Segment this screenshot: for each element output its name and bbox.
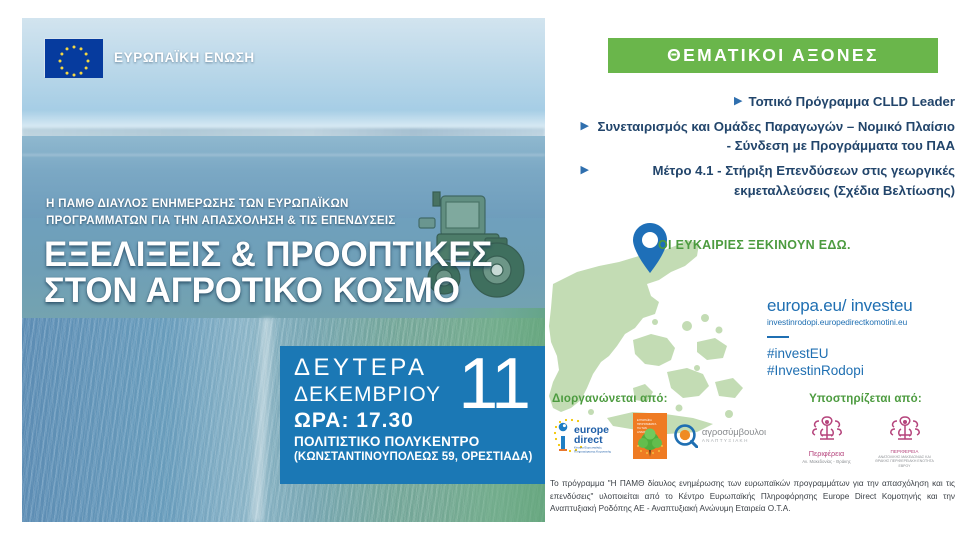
hashtag-investeu[interactable]: #investEU: [767, 345, 957, 362]
supporters-title: Υποστηρίζεται από:: [773, 393, 958, 405]
hashtag-investinrodopi[interactable]: #InvestinRodopi: [767, 362, 957, 379]
program-footnote: Το πρόγραμμα "Η ΠΑΜΘ δίαυλος ενημέρωσης …: [550, 478, 955, 516]
thematic-axes-title: ΘΕΜΑΤΙΚΟΙ ΑΞΟΝΕΣ: [667, 45, 879, 66]
list-item: ▶ Μέτρο 4.1 - Στήριξη Επενδύσεων στις γε…: [555, 161, 955, 199]
triangle-bullet-icon: ▶: [581, 161, 589, 199]
agro-text: αγροσύμβουλοι Α Ν Α Π Τ Υ Ξ Ι Α Κ Η: [702, 428, 766, 444]
date-day-wrap: 11 ΔΕΥΤΕΡΑ ΔΕΚΕΜΒΡΙΟΥ ΩΡΑ: 17.30: [294, 354, 533, 428]
kicker-line-2: ΠΡΟΓΡΑΜΜΑΤΩΝ ΓΙΑ ΤΗΝ ΑΠΑΣΧΟΛΗΣΗ & ΤΙΣ ΕΠ…: [46, 213, 476, 230]
event-poster-image: ΕΥΡΩΠΑΪΚΗ ΕΝΩΣΗ Η ΠΑΜΘ ΔΙΑΥΛΟΣ ΕΝΗΜΕΡΩΣΗ…: [22, 18, 545, 522]
svg-text:Πληροφόρησης Κομοτηνής: Πληροφόρησης Κομοτηνής: [574, 450, 612, 454]
secondary-url[interactable]: investinrodopi.europedirectkomotini.eu: [767, 317, 957, 327]
region-name-1: Περιφέρεια: [796, 449, 858, 458]
magnifier-icon: [674, 424, 698, 448]
brochure-thumbnail: ΕΥΡΩΠΑΪΚΑ ΠΡΟΓΡΑΜΜΑΤΑ ΓΙΑ ΤΗΝ ΑΠΑΣΧΟΛΗΣΗ: [633, 413, 667, 459]
map-tagline: ΟΙ ΕΥΚΑΙΡΙΕΣ ΞΕΚΙΝΟΥΝ ΕΔΩ.: [658, 238, 851, 252]
region-sub-1: Αν. Μακεδονίας - Θράκης: [796, 459, 858, 464]
region-emblem-1: Περιφέρεια Αν. Μακεδονίας - Θράκης: [796, 413, 858, 464]
svg-text:ΠΡΟΓΡΑΜΜΑΤΑ: ΠΡΟΓΡΑΜΜΑΤΑ: [637, 422, 657, 426]
organizer-logos: europe direct Κέντρο Ευρωπαϊκής Πληροφόρ…: [552, 413, 782, 459]
agro-subtitle: Α Ν Α Π Τ Υ Ξ Ι Α Κ Η: [702, 439, 766, 444]
event-venue: ΠΟΛΙΤΙΣΤΙΚΟ ΠΟΛΥΚΕΝΤΡΟ: [294, 434, 533, 449]
svg-text:ΓΙΑ ΤΗΝ: ΓΙΑ ΤΗΝ: [637, 426, 647, 430]
agro-name: αγροσύμβουλοι: [702, 428, 766, 438]
list-item-label: Συνεταιρισμός και Ομάδες Παραγωγών – Νομ…: [595, 117, 955, 155]
headline-line-1: ΕΞΕΛΙΞΕΙΣ & ΠΡΟΟΠΤΙΚΕΣ: [44, 235, 492, 274]
list-item-label: Τοπικό Πρόγραμμα CLLD Leader: [749, 92, 955, 111]
region-crest-icon: [807, 413, 847, 443]
poster-headline: ΕΞΕΛΙΞΕΙΣ & ΠΡΟΟΠΤΙΚΕΣ ΣΤΟΝ ΑΓΡΟΤΙΚΟ ΚΟΣ…: [44, 237, 545, 308]
list-item: ▶ Τοπικό Πρόγραμμα CLLD Leader: [555, 92, 955, 111]
eu-flag-icon: [44, 38, 102, 77]
event-address: (ΚΩΝΣΤΑΝΤΙΝΟΥΠΟΛΕΩΣ 59, ΟΡΕΣΤΙΑΔΑ): [294, 451, 533, 463]
event-date-box: 11 ΔΕΥΤΕΡΑ ΔΕΚΕΜΒΡΙΟΥ ΩΡΑ: 17.30 ΠΟΛΙΤΙΣ…: [280, 346, 545, 484]
svg-text:direct: direct: [574, 434, 603, 446]
poster-page: ΕΥΡΩΠΑΪΚΗ ΕΝΩΣΗ Η ΠΑΜΘ ΔΙΑΥΛΟΣ ΕΝΗΜΕΡΩΣΗ…: [0, 0, 960, 540]
date-day-number: 11: [458, 348, 529, 420]
info-panel: ΘΕΜΑΤΙΚΟΙ ΑΞΟΝΕΣ ▶ Τοπικό Πρόγραμμα CLLD…: [545, 0, 960, 540]
europe-direct-logo: europe direct Κέντρο Ευρωπαϊκής Πληροφόρ…: [552, 416, 626, 456]
thematic-axes-header: ΘΕΜΑΤΙΚΟΙ ΑΞΟΝΕΣ: [608, 38, 938, 73]
supporters-block: Υποστηρίζεται από: Περιφέρεια: [773, 393, 958, 468]
poster-kicker: Η ΠΑΜΘ ΔΙΑΥΛΟΣ ΕΝΗΜΕΡΩΣΗΣ ΤΩΝ ΕΥΡΩΠΑΪΚΩΝ…: [46, 196, 476, 230]
triangle-bullet-icon: ▶: [581, 117, 589, 155]
eu-badge: ΕΥΡΩΠΑΪΚΗ ΕΝΩΣΗ: [44, 38, 255, 77]
main-url[interactable]: europa.eu/ investeu: [767, 296, 957, 316]
thematic-axes-list: ▶ Τοπικό Πρόγραμμα CLLD Leader ▶ Συνεται…: [555, 92, 955, 206]
kicker-line-1: Η ΠΑΜΘ ΔΙΑΥΛΟΣ ΕΝΗΜΕΡΩΣΗΣ ΤΩΝ ΕΥΡΩΠΑΪΚΩΝ: [46, 196, 476, 213]
headline-line-2: ΣΤΟΝ ΑΓΡΟΤΙΚΟ ΚΟΣΜΟ: [44, 273, 545, 309]
organizers-title: Διοργανώνεται από:: [552, 393, 782, 405]
region-crest-icon: [885, 413, 925, 443]
triangle-bullet-icon: ▶: [734, 92, 742, 111]
region-sub-2: ΑΝΑΤΟΛΙΚΗΣ ΜΑΚΕΔΟΝΙΑΣ ΚΑΙ ΘΡΑΚΗΣ ΠΕΡΙΦΕΡ…: [874, 455, 936, 468]
svg-text:ΕΥΡΩΠΑΪΚΑ: ΕΥΡΩΠΑΪΚΑ: [637, 418, 652, 422]
eu-label: ΕΥΡΩΠΑΪΚΗ ΕΝΩΣΗ: [114, 50, 255, 65]
list-item-label: Μέτρο 4.1 - Στήριξη Επενδύσεων στις γεωρ…: [595, 161, 955, 199]
divider: [767, 336, 789, 338]
region-name-2: ΠΕΡΙΦΕΡΕΙΑ: [874, 449, 936, 454]
supporter-logos: Περιφέρεια Αν. Μακεδονίας - Θράκης: [773, 413, 958, 468]
organizers-block: Διοργανώνεται από: europe direct Κέ: [552, 393, 782, 459]
region-emblem-2: ΠΕΡΙΦΕΡΕΙΑ ΑΝΑΤΟΛΙΚΗΣ ΜΑΚΕΔΟΝΙΑΣ ΚΑΙ ΘΡΑ…: [874, 413, 936, 468]
agrosymvouloi-logo: αγροσύμβουλοι Α Ν Α Π Τ Υ Ξ Ι Α Κ Η: [674, 423, 766, 449]
url-block: europa.eu/ investeu investinrodopi.europ…: [767, 296, 957, 380]
list-item: ▶ Συνεταιρισμός και Ομάδες Παραγωγών – Ν…: [555, 117, 955, 155]
